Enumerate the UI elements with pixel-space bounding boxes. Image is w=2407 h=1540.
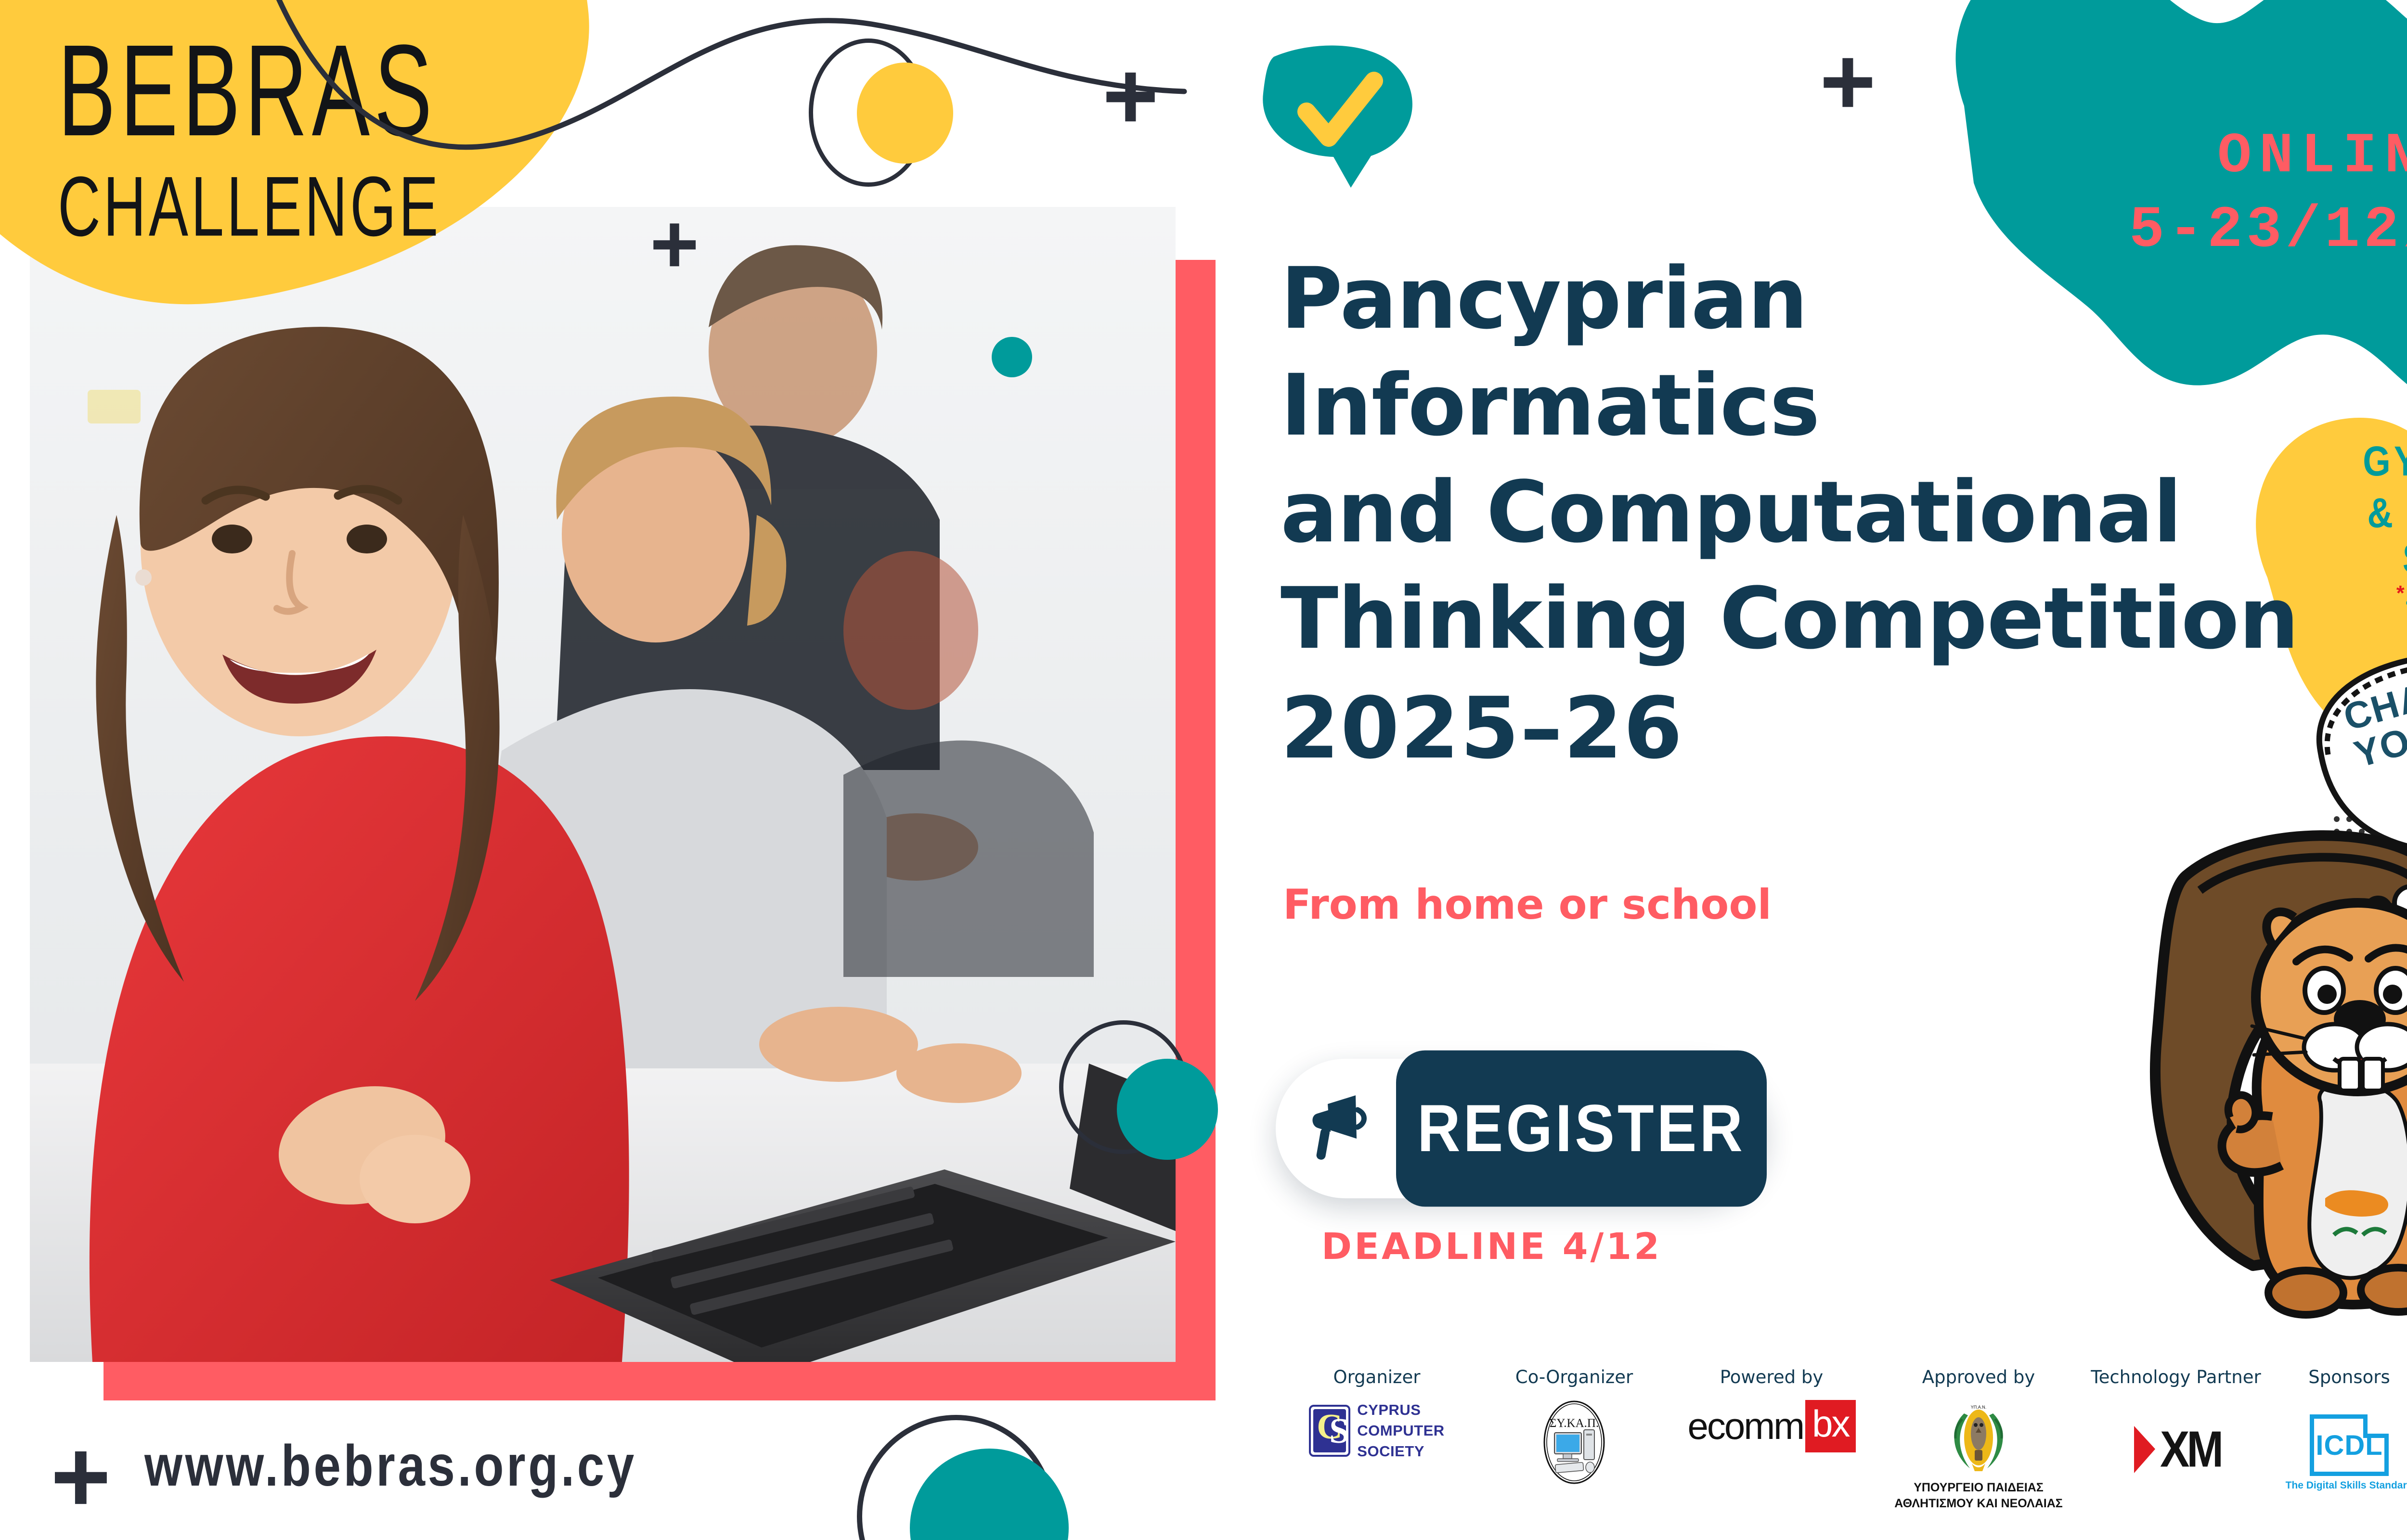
ccs-text-line-1: CYPRUS bbox=[1357, 1400, 1444, 1421]
partner-caption: Co-Organizer bbox=[1515, 1367, 1633, 1387]
plus-icon-b: + bbox=[650, 202, 699, 286]
partner-group-organizer: Organizer C S CYPRUS COMPUTER SOCIETY bbox=[1271, 1367, 1483, 1462]
ccs-text-line-2: COMPUTER bbox=[1357, 1421, 1444, 1441]
logo-ecommbx: ecomm bx bbox=[1687, 1400, 1855, 1452]
logo-icdl: ICDL The Digital Skills Standard bbox=[2306, 1414, 2393, 1491]
sykap-label: ΣΥ.ΚΑ.Π. bbox=[1550, 1417, 1599, 1430]
ministry-crest-label: ΥΠ.Α.Ν. bbox=[1971, 1405, 1987, 1410]
partner-group-technology-partner: Technology Partner XM bbox=[2080, 1367, 2272, 1476]
partner-caption: Technology Partner bbox=[2091, 1367, 2261, 1387]
partner-caption: Approved by bbox=[1922, 1367, 2035, 1387]
icdl-tagline: The Digital Skills Standard bbox=[2286, 1480, 2407, 1491]
partner-caption: Organizer bbox=[1333, 1367, 1421, 1387]
register-button[interactable]: REGISTER bbox=[1396, 1051, 1767, 1207]
partner-group-sponsors: Sponsors ICDL The Digital Skills Standar… bbox=[2272, 1367, 2407, 1491]
ccs-logo-text: CYPRUS COMPUTER SOCIETY bbox=[1357, 1400, 1444, 1462]
xm-red-wedge-icon bbox=[2131, 1423, 2160, 1476]
ministry-text-line-2: ΑΘΛΗΤΙΣΜΟΥ ΚΑΙ ΝΕΟΛΑΙΑΣ bbox=[1894, 1496, 2063, 1512]
plus-icon-d: + bbox=[51, 1424, 111, 1528]
beaver-mascot bbox=[2128, 808, 2407, 1328]
partner-strip: Organizer C S CYPRUS COMPUTER SOCIETY bbox=[1271, 1367, 2407, 1530]
register-cta[interactable]: REGISTER bbox=[1276, 1059, 1767, 1198]
checkmark-speech-bubble-icon bbox=[1256, 43, 1420, 197]
ministry-text-line-1: ΥΠΟΥΡΓΕΙΟ ΠΑΙΔΕΙΑΣ bbox=[1894, 1480, 2063, 1496]
headline-line-2: Informatics bbox=[1281, 352, 2378, 459]
icdl-text: ICDL bbox=[2316, 1429, 2382, 1462]
teal-dot-decoration-2 bbox=[1117, 1059, 1218, 1160]
asterisk-marker-2: * bbox=[2396, 582, 2405, 605]
logo-sykap: ΣΥ.ΚΑ.Π. bbox=[1538, 1400, 1610, 1484]
squiggle-line-decoration bbox=[231, 0, 1386, 183]
ministry-text: ΥΠΟΥΡΓΕΙΟ ΠΑΙΔΕΙΑΣ ΑΘΛΗΤΙΣΜΟΥ ΚΑΙ ΝΕΟΛΑΙ… bbox=[1894, 1480, 2063, 1511]
classroom-photo bbox=[30, 207, 1176, 1362]
ministry-crest-icon: ΥΠ.Α.Ν. bbox=[1945, 1400, 2012, 1477]
poster-canvas: BEBRAS CHALLENGE + + + + ONLINE: 5-23/12… bbox=[0, 0, 2407, 1540]
megaphone-icon bbox=[1303, 1092, 1375, 1165]
deadline-text: DEADLINE 4/12 bbox=[1321, 1225, 1662, 1268]
headline-year: 2025–26 bbox=[1281, 675, 2378, 782]
teal-dot-decoration-small bbox=[992, 337, 1032, 377]
plus-icon-a: + bbox=[1102, 48, 1159, 144]
partner-group-powered-by: Powered by ecomm bx bbox=[1666, 1367, 1877, 1452]
xm-text: XM bbox=[2160, 1421, 2221, 1479]
partner-group-approved-by: Approved by ΥΠ.Α.Ν. bbox=[1877, 1367, 2080, 1511]
partner-caption: Powered by bbox=[1720, 1367, 1823, 1387]
website-url[interactable]: www.bebras.org.cy bbox=[144, 1432, 637, 1499]
logo-cyprus-computer-society: C S CYPRUS COMPUTER SOCIETY bbox=[1309, 1400, 1444, 1462]
headline-line-4: Thinking Competition bbox=[1281, 565, 2378, 672]
online-label: ONLINE: bbox=[2041, 120, 2407, 193]
logo-xm: XM bbox=[2131, 1423, 2221, 1476]
ecommbx-text-b: bx bbox=[1805, 1400, 1855, 1452]
headline-line-1: Pancyprian bbox=[1281, 245, 2378, 352]
partner-group-co-organizer: Co-Organizer ΣΥ.ΚΑ.Π. bbox=[1483, 1367, 1666, 1484]
page-title: Pancyprian Informatics and Computational… bbox=[1281, 245, 2378, 782]
headline-line-3: and Computational bbox=[1281, 459, 2378, 566]
logo-ministry-of-education: ΥΠ.Α.Ν. ΥΠΟΥΡΓΕΙΟ ΠΑΙΔΕΙΑΣ ΑΘΛΗΤΙΣΜΟΥ ΚΑ… bbox=[1894, 1400, 2063, 1511]
ccs-logo-mark: C S bbox=[1309, 1405, 1350, 1457]
yellow-dot-decoration bbox=[857, 63, 953, 164]
classroom-photo-illustration bbox=[30, 207, 1176, 1362]
ccs-text-line-3: SOCIETY bbox=[1357, 1441, 1444, 1462]
subheadline: From home or school bbox=[1283, 881, 1772, 929]
partner-caption: Sponsors bbox=[2308, 1367, 2390, 1387]
ccs-letter-s: S bbox=[1329, 1419, 1346, 1444]
plus-icon-c: + bbox=[1820, 34, 1876, 130]
ecommbx-text-a: ecomm bbox=[1687, 1404, 1803, 1448]
